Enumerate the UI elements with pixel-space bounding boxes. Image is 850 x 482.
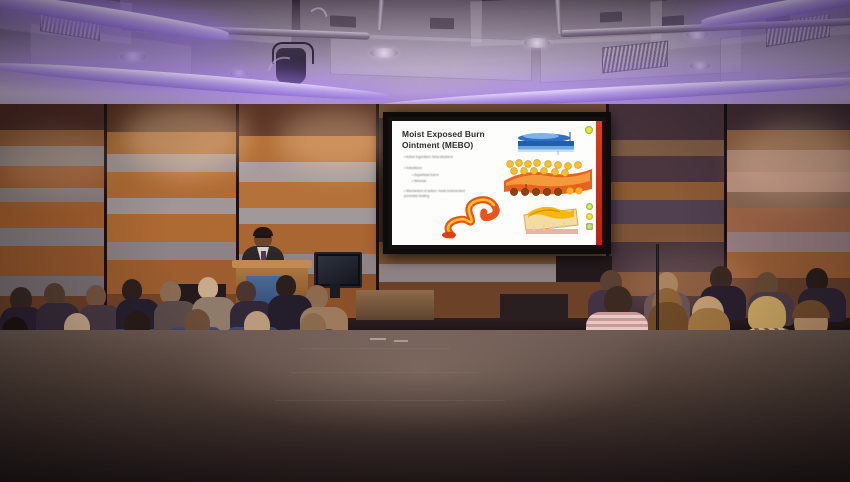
- ceiling-downlight: [524, 38, 550, 48]
- slide-logo-top-right: [585, 126, 593, 134]
- yellow-dressing-illustration: [520, 199, 582, 239]
- slide-logo-bottom-3: [586, 223, 593, 230]
- ceiling-downlight: [120, 52, 146, 62]
- projection-screen: Moist Exposed Burn Ointment (MEBO) ▪ Act…: [383, 112, 611, 254]
- slide-bullet-3: • Superficial burns: [412, 173, 478, 178]
- conference-presentation-photo: Moist Exposed Burn Ointment (MEBO) ▪ Act…: [0, 0, 850, 482]
- slide-bullet-1: ▪ Active ingredient: beta-sitosterol: [404, 155, 478, 160]
- audience-head: [276, 275, 296, 297]
- ceiling: [0, 0, 850, 118]
- orange-tissue-cells-diagram: [502, 159, 594, 199]
- slide-logo-bottom-1: [586, 203, 593, 210]
- presentation-slide: Moist Exposed Burn Ointment (MEBO) ▪ Act…: [392, 121, 602, 245]
- orange-ointment-tube-swirl: [440, 195, 506, 239]
- slide-bullet-4: • Wounds: [412, 179, 478, 184]
- audience-head: [198, 277, 218, 299]
- slide-title: Moist Exposed Burn Ointment (MEBO): [402, 129, 522, 150]
- carpet-floor: [0, 330, 850, 482]
- presenter-glasses: [255, 235, 271, 238]
- ceiling-downlight: [690, 62, 710, 70]
- slide-accent-bar: [596, 121, 602, 245]
- stage-desk: [356, 290, 434, 320]
- slide-bullet-2: ▪ Indications: [404, 166, 478, 171]
- audience-head: [122, 279, 142, 301]
- ceiling-downlight: [230, 70, 248, 77]
- audience-head: [236, 281, 256, 303]
- blond-hair: [748, 296, 786, 330]
- audience-head: [86, 285, 106, 307]
- ceiling-downlight: [370, 48, 398, 58]
- slide-logo-bottom-2: [586, 213, 593, 220]
- blue-skin-layer-diagram: [508, 129, 586, 157]
